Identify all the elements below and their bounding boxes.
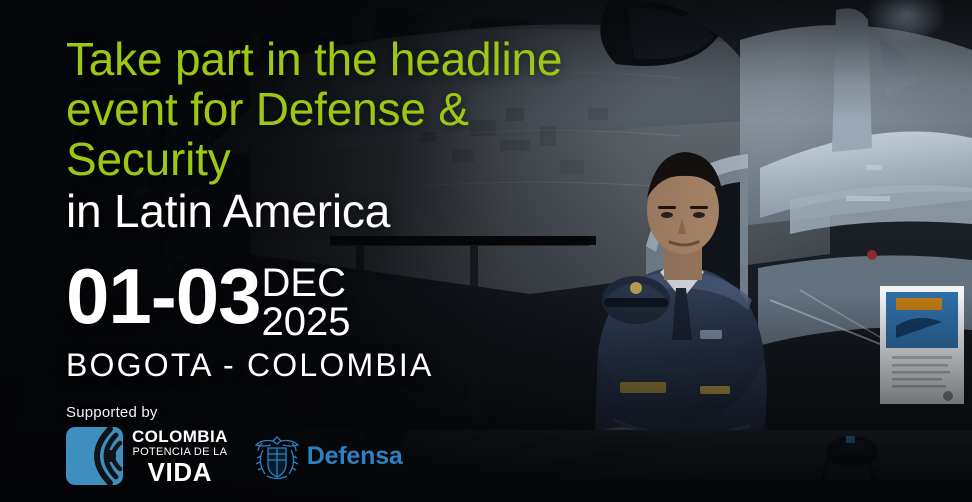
event-days: 01-03 (66, 260, 261, 332)
sponsor-logos: COLOMBIA POTENCIA DE LA VIDA (66, 427, 972, 485)
defensa-wordmark: Defensa (307, 442, 403, 471)
event-date-block: 01-03 DEC 2025 (66, 260, 972, 342)
headline-line-1: Take part in the headline (66, 34, 726, 84)
supported-by-label: Supported by (66, 404, 972, 421)
colombia-line-1: COLOMBIA (132, 428, 228, 445)
headline-line-2: event for Defense & (66, 84, 726, 134)
headline: Take part in the headline event for Defe… (66, 34, 726, 236)
banner-content: Take part in the headline event for Defe… (0, 0, 972, 502)
logo-colombia-potencia-de-la-vida[interactable]: COLOMBIA POTENCIA DE LA VIDA (66, 427, 228, 485)
event-year: 2025 (262, 303, 351, 342)
event-promo-banner: Take part in the headline event for Defe… (0, 0, 972, 502)
event-location: BOGOTA - COLOMBIA (66, 348, 972, 382)
logo-ministerio-de-defensa[interactable]: Defensa (254, 432, 403, 480)
colombia-line-2: POTENCIA DE LA (132, 447, 228, 458)
colombia-coat-of-arms-icon (254, 432, 300, 480)
colombia-line-3: VIDA (132, 459, 228, 485)
colombia-wordmark: COLOMBIA POTENCIA DE LA VIDA (132, 428, 228, 485)
colombia-waves-icon (66, 427, 123, 485)
event-month: DEC (262, 264, 351, 303)
headline-line-3: Security (66, 134, 726, 184)
headline-line-4: in Latin America (66, 186, 726, 236)
event-month-year: DEC 2025 (262, 264, 351, 342)
